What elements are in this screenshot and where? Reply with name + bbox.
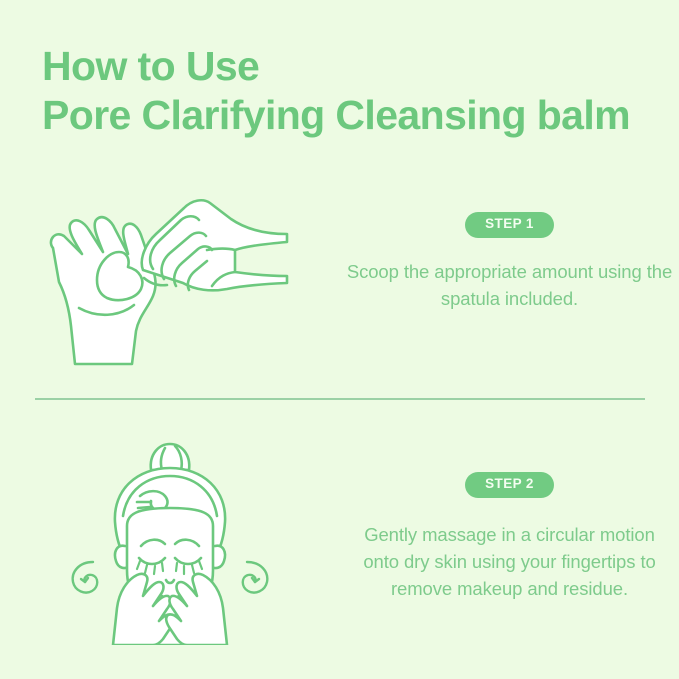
step-2-art — [0, 430, 340, 645]
step-2-description: Gently massage in a circular motion onto… — [345, 521, 675, 602]
section-divider — [35, 398, 645, 400]
title-line-2: Pore Clarifying Cleansing balm — [42, 91, 662, 140]
step-1-row: STEP 1 Scoop the appropriate amount usin… — [0, 186, 679, 386]
hands-with-spatula-illustration — [35, 186, 305, 376]
infographic-page: How to Use Pore Clarifying Cleansing bal… — [0, 0, 679, 679]
step-2-badge: STEP 2 — [465, 472, 554, 498]
step-2-row: STEP 2 Gently massage in a circular moti… — [0, 430, 679, 650]
step-1-text-col: STEP 1 Scoop the appropriate amount usin… — [340, 186, 679, 312]
face-massage-illustration — [55, 430, 285, 645]
step-1-description: Scoop the appropriate amount using the s… — [345, 258, 675, 312]
title-line-1: How to Use — [42, 42, 662, 91]
step-1-badge: STEP 1 — [465, 212, 554, 238]
step-2-text-col: STEP 2 Gently massage in a circular moti… — [340, 430, 679, 602]
page-title: How to Use Pore Clarifying Cleansing bal… — [42, 42, 662, 140]
step-1-art — [0, 186, 340, 376]
